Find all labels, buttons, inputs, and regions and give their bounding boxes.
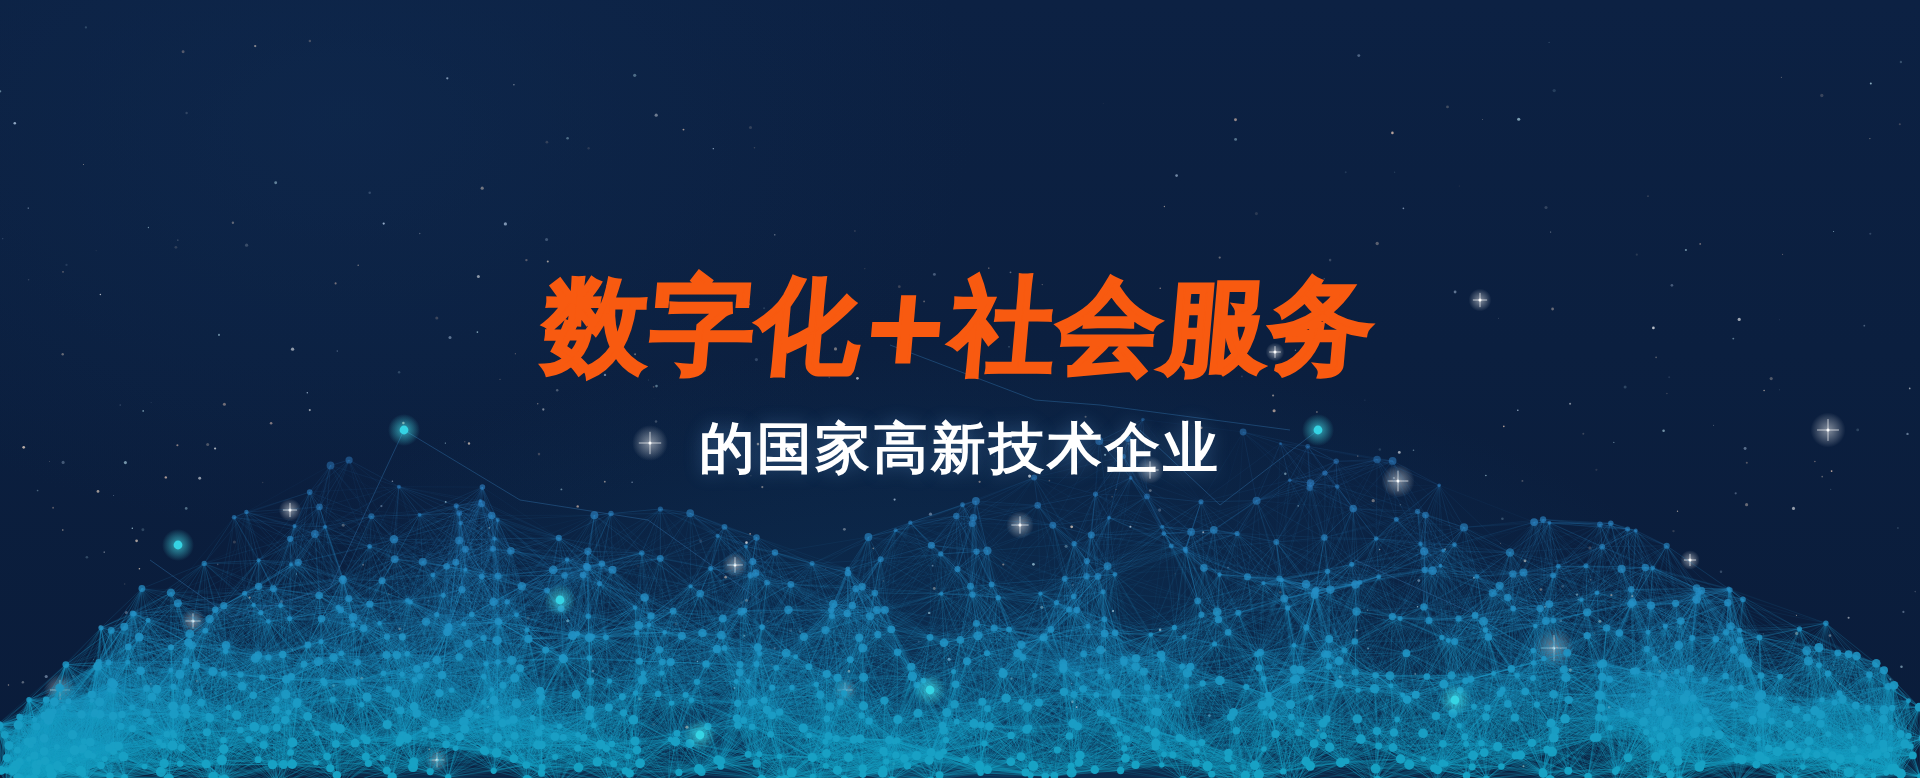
hero-banner: 数字化+社会服务 的国家高新技术企业 xyxy=(0,0,1920,778)
network-mesh-graphic xyxy=(0,0,1920,778)
